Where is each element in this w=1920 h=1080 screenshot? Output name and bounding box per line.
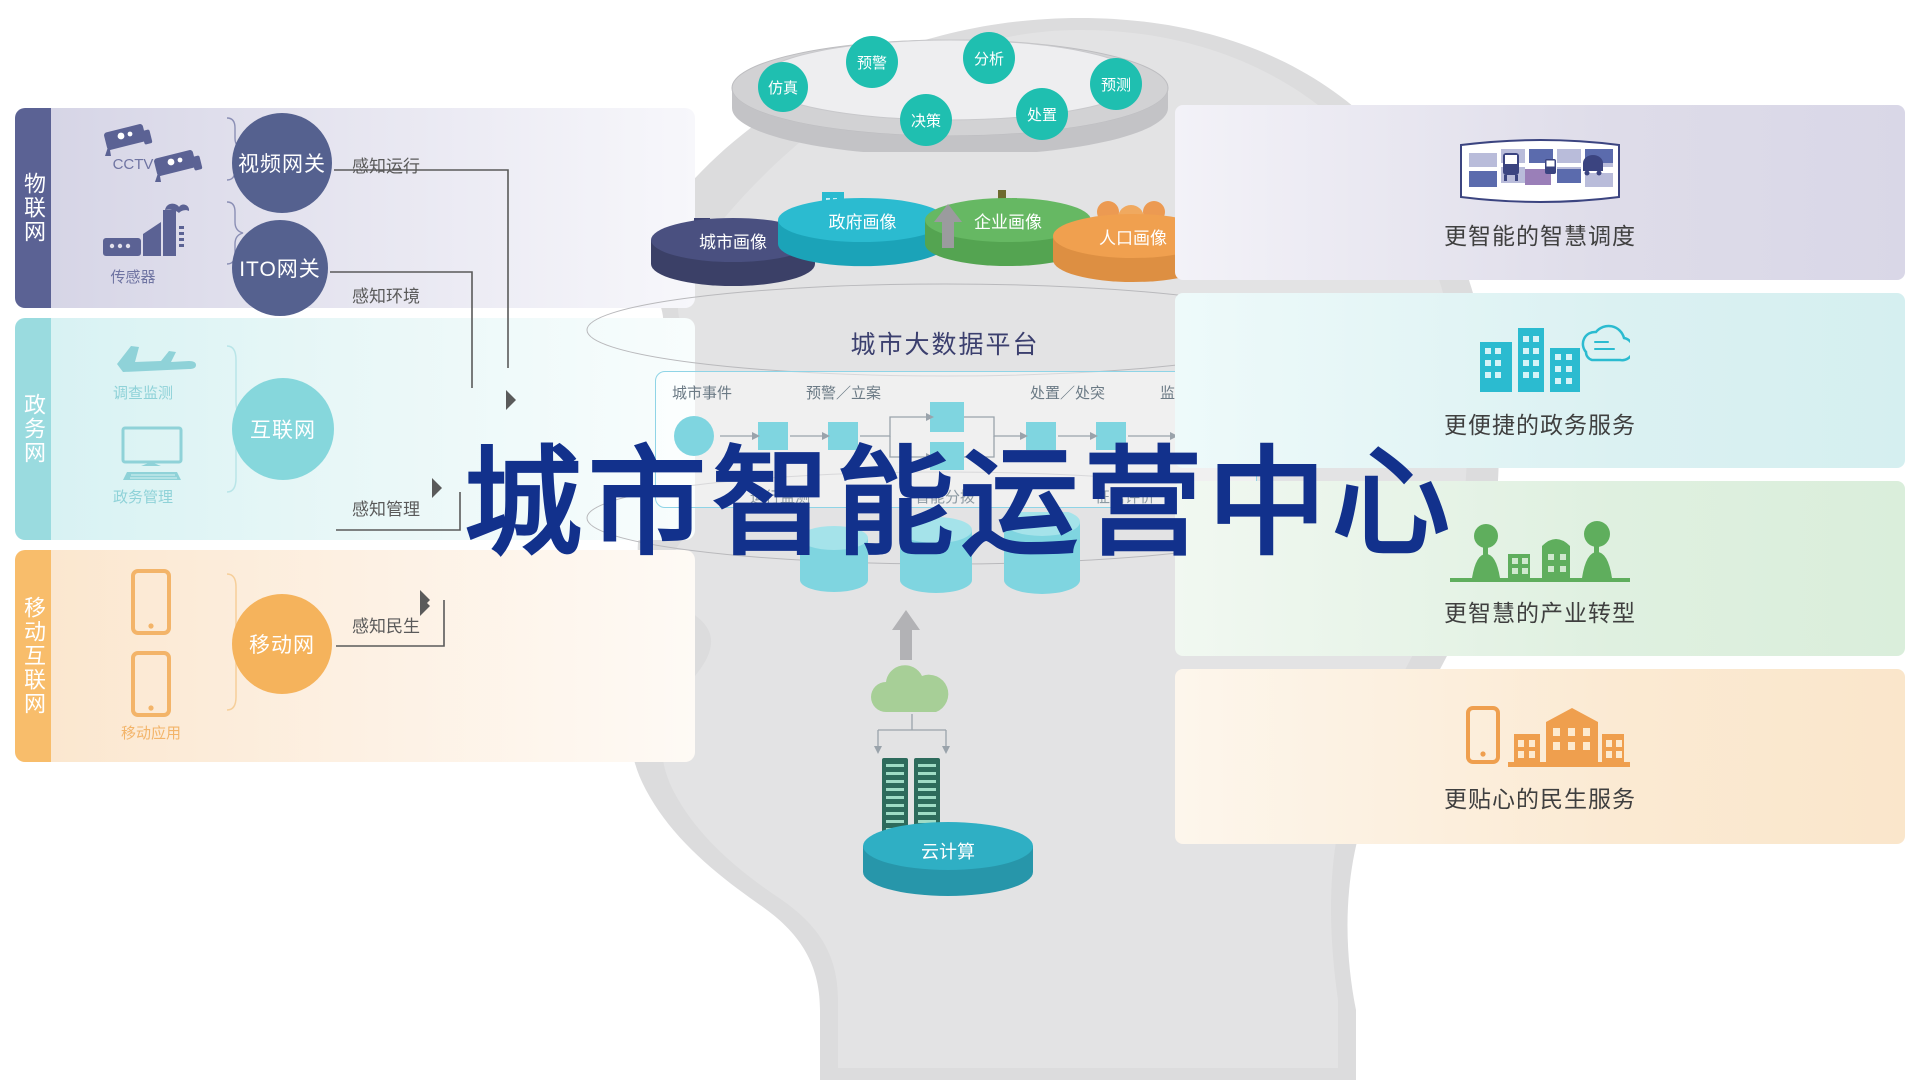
bubble-disposal[interactable]: 处置: [1016, 88, 1068, 140]
panel-iot-tab-label: 物联网: [17, 172, 49, 244]
benefit-panel-dispatch[interactable]: 更智能的智慧调度: [1175, 105, 1905, 280]
smartphone-icon: [129, 568, 173, 638]
page-title: 城市智能运营中心: [0, 445, 1920, 563]
cloud-server-connector: [862, 714, 962, 756]
node-mobile-network-label: 移动网: [249, 629, 315, 659]
node-video-gateway[interactable]: 视频网关: [232, 113, 332, 213]
bubble-prediction-label: 预测: [1101, 74, 1131, 95]
gov-cloud-building-icon: [1450, 322, 1630, 396]
bubble-analysis-label: 分析: [974, 48, 1004, 69]
airplane-icon: [109, 342, 199, 382]
connector-lines: [320, 100, 570, 760]
node-internet-label: 互联网: [250, 414, 316, 444]
factory-sensor-icon: [99, 200, 219, 266]
panel-mobile-tab-label: 移动互联网: [17, 596, 49, 716]
panel-mobile-tab: 移动互联网: [15, 550, 51, 762]
node-ito-gateway-label: ITO网关: [239, 253, 321, 283]
node-mobile-network[interactable]: 移动网: [232, 594, 332, 694]
transit-video-wall-icon: [1455, 135, 1625, 207]
up-arrow-icon: [932, 202, 964, 250]
bubble-decision-label: 决策: [911, 110, 941, 131]
bubble-disposal-label: 处置: [1027, 104, 1057, 125]
cctv-label: CCTV: [73, 156, 193, 173]
infographic-canvas: 物联网 CCTV: [0, 0, 1920, 1080]
bubble-warning[interactable]: 预警: [846, 36, 898, 88]
bubble-simulation[interactable]: 仿真: [758, 62, 808, 112]
sensor-label: 传感器: [73, 266, 193, 287]
benefit-livelihood-title: 更贴心的民生服务: [1444, 780, 1636, 814]
panel-iot-tab: 物联网: [15, 108, 51, 308]
up-arrow-icon: [890, 608, 922, 662]
bubble-prediction[interactable]: 预测: [1090, 58, 1142, 110]
cctv-camera-icon: [99, 116, 219, 186]
node-video-gateway-label: 视频网关: [238, 148, 326, 178]
mobile-app-label: 移动应用: [91, 722, 211, 743]
bubble-warning-label: 预警: [857, 52, 887, 73]
benefit-industry-title: 更智慧的产业转型: [1444, 594, 1636, 628]
benefit-dispatch-title: 更智能的智慧调度: [1444, 217, 1636, 251]
smartphone-icon: [129, 650, 173, 720]
bubble-decision[interactable]: 决策: [900, 94, 952, 146]
bubble-analysis[interactable]: 分析: [963, 32, 1015, 84]
benefit-panel-livelihood[interactable]: 更贴心的民生服务: [1175, 669, 1905, 844]
cloud-computing-label: 云计算: [860, 838, 1036, 864]
node-ito-gateway[interactable]: ITO网关: [232, 220, 328, 316]
survey-monitor-label: 调查监测: [83, 382, 203, 403]
mobile-civic-icon: [1450, 700, 1630, 770]
benefit-egov-title: 更便捷的政务服务: [1444, 406, 1636, 440]
bubble-simulation-label: 仿真: [768, 77, 798, 98]
